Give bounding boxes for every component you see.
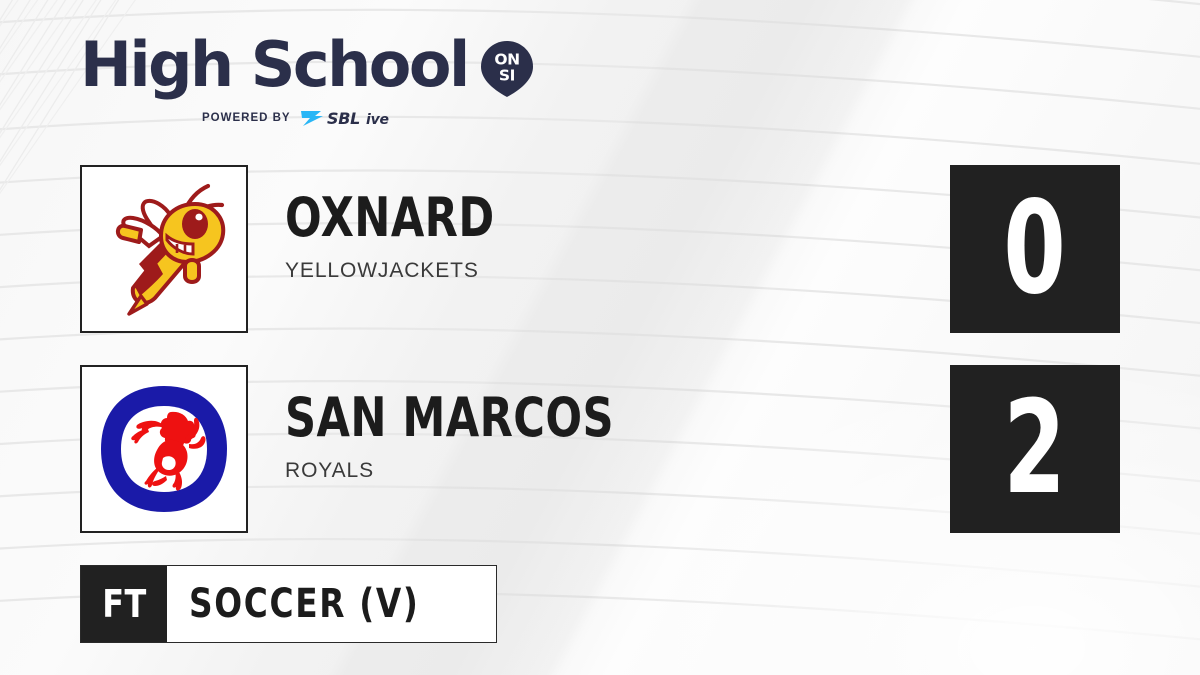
svg-text:ive: ive xyxy=(366,112,389,128)
team-text-san-marcos: SAN MARCOS ROYALS xyxy=(285,391,1005,483)
team-logo-card-san-marcos xyxy=(80,365,248,533)
game-status-label: FT xyxy=(102,582,146,626)
score-value: 2 xyxy=(1004,385,1066,513)
powered-by-label: POWERED BY xyxy=(202,112,291,124)
yellowjacket-hornet-icon xyxy=(89,174,239,324)
royal-lion-o-icon xyxy=(97,382,231,516)
team-name: SAN MARCOS xyxy=(285,391,861,445)
team-name: OXNARD xyxy=(285,191,861,245)
sport-label-box: SOCCER (V) xyxy=(167,566,496,642)
powered-by-row: POWERED BY SBL ive xyxy=(202,107,536,129)
sblive-logo: SBL ive xyxy=(299,107,409,129)
game-status-badge: FT xyxy=(81,566,167,642)
svg-text:SBL: SBL xyxy=(327,109,360,128)
brand-logo: High School ON SI xyxy=(80,36,536,98)
score-box-oxnard: 0 xyxy=(950,165,1120,333)
team-text-oxnard: OXNARD YELLOWJACKETS xyxy=(285,191,1005,283)
scoreboard-graphic: High School ON SI POWERED BY SBL ive xyxy=(0,0,1200,675)
on-si-pin-icon: ON SI xyxy=(478,40,536,98)
brand-header: High School ON SI POWERED BY SBL ive xyxy=(80,36,536,129)
team-logo-card-oxnard xyxy=(80,165,248,333)
sport-label: SOCCER (V) xyxy=(189,581,419,627)
team-mascot: ROYALS xyxy=(285,459,1005,483)
svg-text:SI: SI xyxy=(499,67,515,85)
team-mascot: YELLOWJACKETS xyxy=(285,259,1005,283)
status-bar: FT SOCCER (V) xyxy=(80,565,497,643)
score-box-san-marcos: 2 xyxy=(950,365,1120,533)
brand-title: High School xyxy=(80,36,468,93)
score-value: 0 xyxy=(1004,185,1066,313)
